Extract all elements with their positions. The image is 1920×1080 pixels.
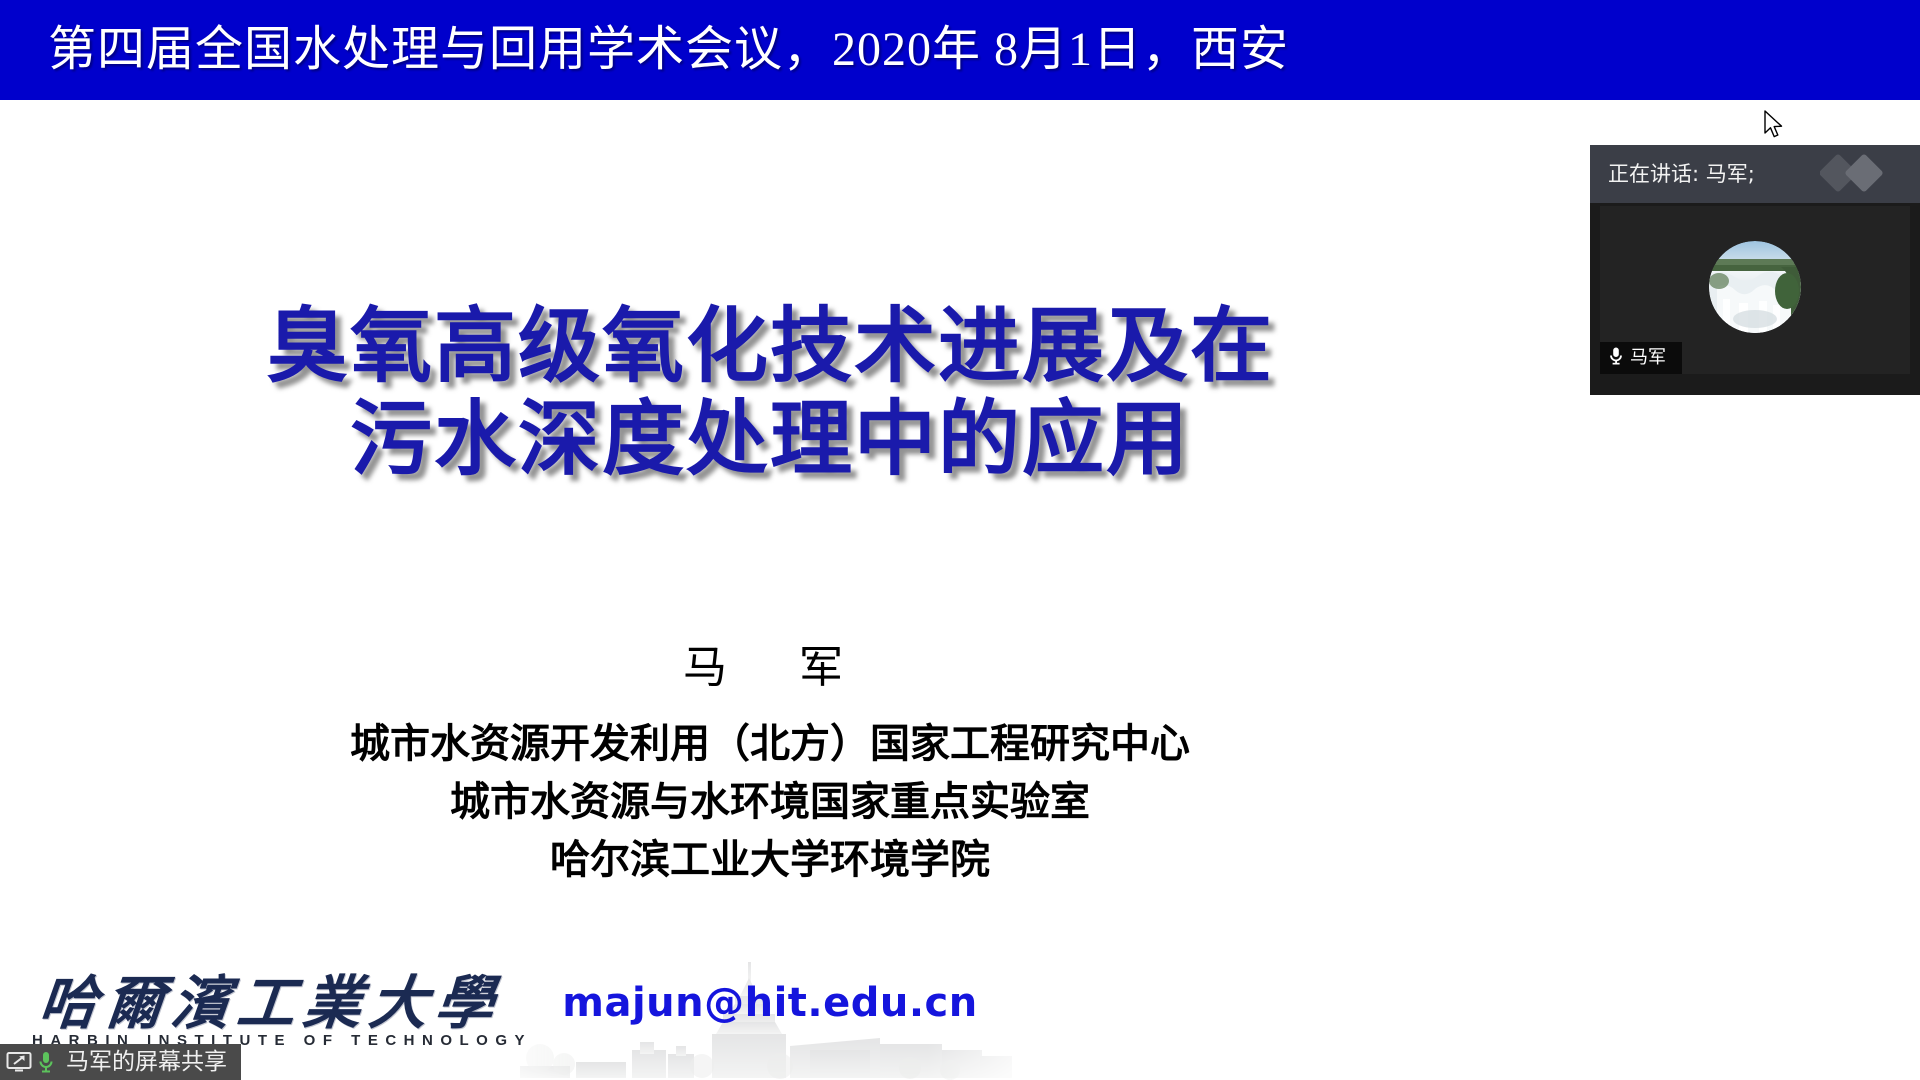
slide-title-line-1: 臭氧高级氧化技术进展及在 [0, 300, 1540, 393]
author-block: 马 军 城市水资源开发利用（北方）国家工程研究中心 城市水资源与水环境国家重点实… [0, 640, 1540, 889]
affiliation-line-1: 城市水资源开发利用（北方）国家工程研究中心 [0, 715, 1540, 773]
participant-name: 马军 [1630, 349, 1666, 367]
affiliation-line-3: 哈尔滨工业大学环境学院 [0, 831, 1540, 889]
participant-nametag: 马军 [1600, 342, 1682, 374]
conference-banner-text: 第四届全国水处理与回用学术会议，2020年 8月1日，西安 [48, 26, 1289, 74]
author-name: 马 军 [0, 640, 1540, 695]
video-panel-header[interactable]: 正在讲话: 马军; [1590, 145, 1920, 203]
active-speaker-label: 正在讲话: 马军; [1608, 164, 1755, 185]
overlapping-diamonds-icon [1820, 149, 1894, 199]
hit-logo-chinese-name: 哈爾濱工業大學 [36, 956, 507, 1040]
affiliation-line-2: 城市水资源与水环境国家重点实验室 [0, 773, 1540, 831]
screenshare-status-bar: 马军的屏幕共享 [0, 1044, 241, 1080]
microphone-icon [36, 1050, 56, 1074]
slide-title: 臭氧高级氧化技术进展及在 污水深度处理中的应用 [0, 300, 1540, 487]
conference-banner: 第四届全国水处理与回用学术会议，2020年 8月1日，西安 [0, 0, 1920, 100]
screen-share-icon [6, 1051, 32, 1073]
waterfall-avatar-image [1709, 241, 1801, 333]
screenshare-status-label: 马军的屏幕共享 [66, 1051, 227, 1074]
video-panel[interactable]: 正在讲话: 马军; [1590, 145, 1920, 395]
microphone-icon [1608, 346, 1624, 371]
participant-video-tile[interactable]: 马军 [1600, 206, 1910, 374]
slide-title-line-2: 污水深度处理中的应用 [0, 393, 1540, 486]
